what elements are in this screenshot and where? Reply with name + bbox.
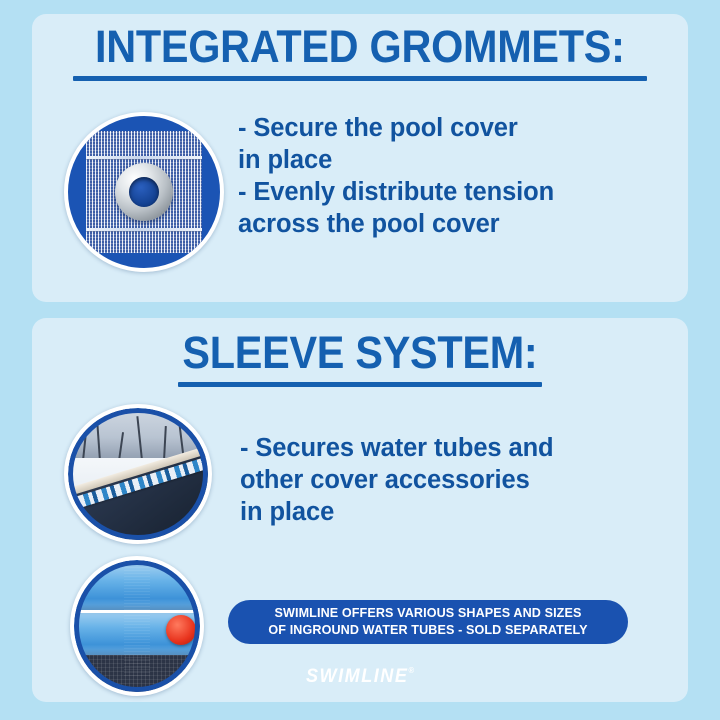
sleeve-heading-underline [178, 382, 542, 387]
grommets-heading-underline [73, 76, 647, 81]
photo-ring-border [68, 408, 208, 540]
winter-pool-cover-photo [64, 404, 212, 544]
stitch-line-top [86, 156, 202, 159]
grommet-hole [129, 177, 159, 207]
grommet-closeup-photo [64, 112, 224, 272]
grommets-heading-block: INTEGRATED GROMMETS: [0, 24, 720, 81]
water-tubes-note-banner: SWIMLINE OFFERS VARIOUS SHAPES AND SIZES… [228, 600, 628, 644]
banner-line-2: OF INGROUND WATER TUBES - SOLD SEPARATEL… [268, 622, 587, 639]
sleeve-heading: SLEEVE SYSTEM: [182, 330, 537, 375]
winter-photo-inner [68, 408, 208, 540]
grommets-heading: INTEGRATED GROMMETS: [95, 24, 625, 69]
sleeve-photo-inner [74, 560, 200, 692]
stitch-line-bottom [86, 228, 202, 231]
metal-grommet-ring [115, 163, 173, 221]
grommets-bullet-list: - Secure the pool cover in place - Evenl… [238, 112, 638, 241]
grommet-photo-inner [68, 116, 220, 268]
sleeve-bullet-list: - Secures water tubes and other cover ac… [240, 432, 630, 528]
product-infographic: INTEGRATED GROMMETS: - Secure the pool c… [0, 0, 720, 720]
swimline-logo-text: SWIMLINE [306, 666, 408, 687]
photo-ring-border [74, 560, 200, 692]
banner-line-1: SWIMLINE OFFERS VARIOUS SHAPES AND SIZES [275, 605, 582, 622]
sleeve-heading-block: SLEEVE SYSTEM: [0, 330, 720, 387]
registered-trademark-mark: ® [408, 666, 414, 675]
